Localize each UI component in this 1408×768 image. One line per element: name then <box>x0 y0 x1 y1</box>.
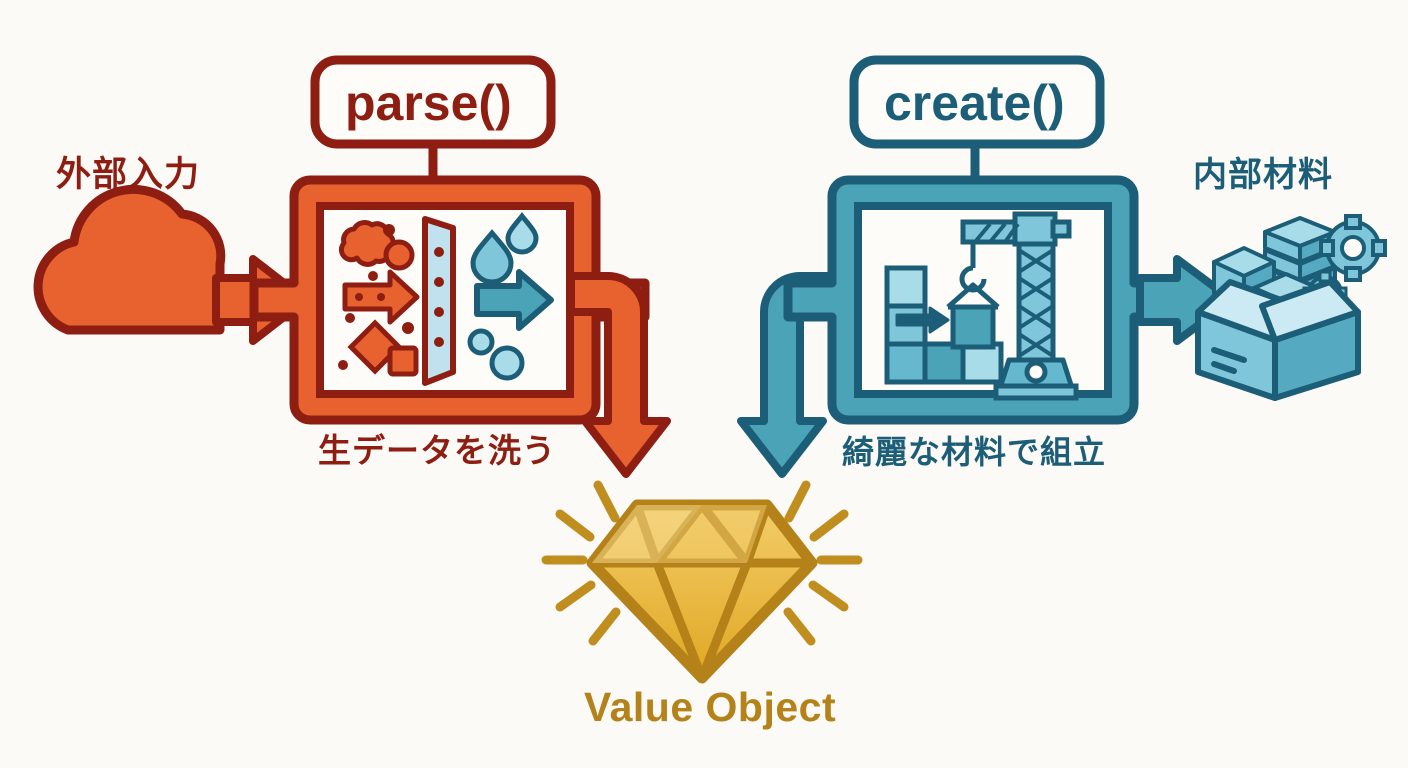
diagram-canvas <box>0 0 1408 768</box>
filter-funnel-icon <box>338 216 551 383</box>
create-pill[interactable] <box>854 60 1100 144</box>
parse-pill[interactable] <box>315 60 551 144</box>
